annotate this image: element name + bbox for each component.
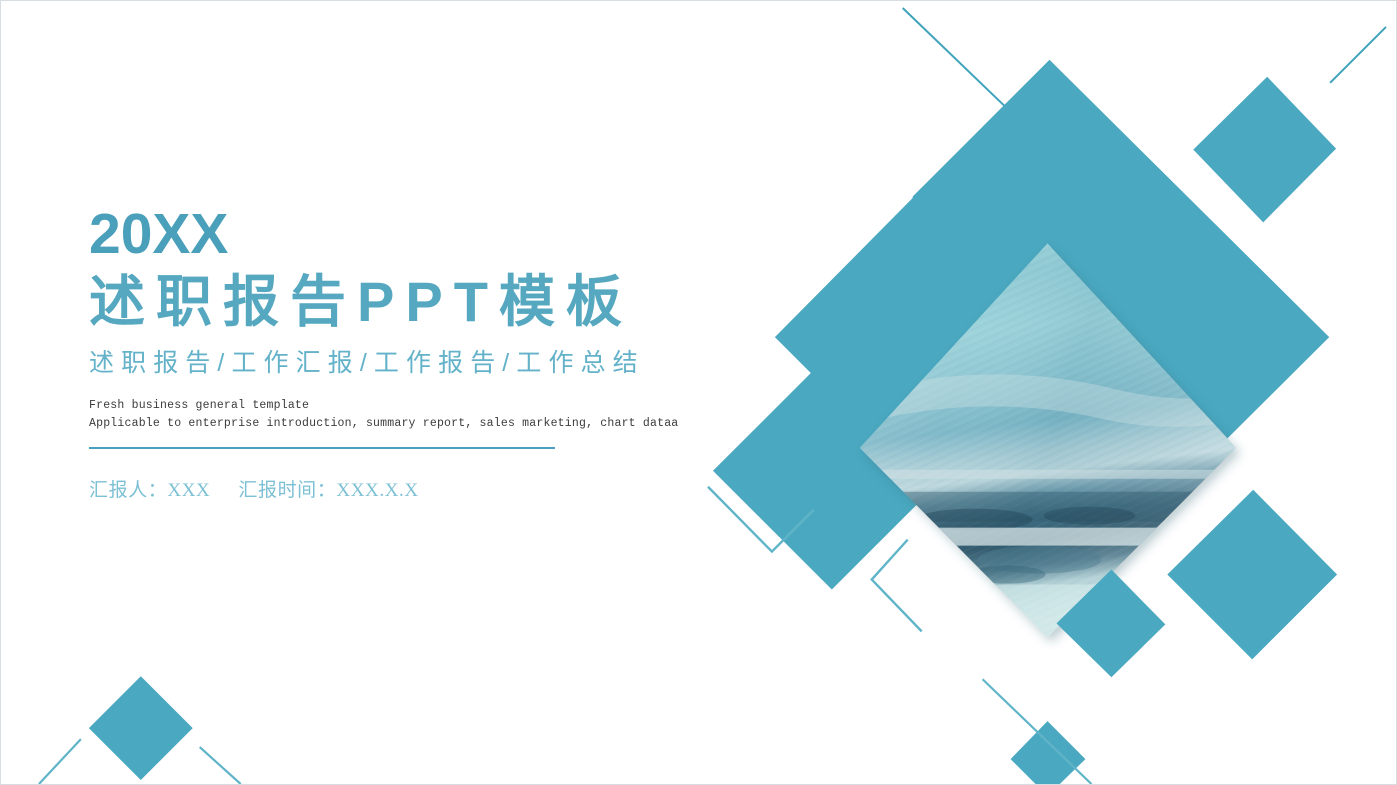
date-value: XXX.X.X	[336, 480, 418, 501]
thin-diagonal-line-top-right	[1330, 27, 1386, 83]
year-label: 20XX	[89, 206, 789, 263]
date-label: 汇报时间：	[238, 480, 336, 501]
chevron-outline-right	[872, 540, 922, 632]
meta-row: 汇报人：XXX汇报时间：XXX.X.X	[89, 475, 789, 502]
bottom-center-small-diamond	[1011, 721, 1086, 784]
thin-diagonal-line-bottom-left-b	[200, 747, 241, 784]
thin-diagonal-line-top	[903, 8, 1012, 113]
english-description: Fresh business general template Applicab…	[89, 397, 789, 434]
thin-diagonal-line-bottom-left-a	[39, 739, 81, 784]
top-right-diamond	[1193, 77, 1336, 223]
english-description-line-2: Applicable to enterprise introduction, s…	[89, 415, 789, 434]
reporter-value: XXX	[167, 480, 210, 501]
reporter-label: 汇报人：	[89, 480, 167, 501]
divider	[89, 447, 555, 449]
subtitle: 述职报告/工作汇报/工作报告/工作总结	[89, 343, 789, 379]
bottom-left-diamond	[89, 676, 193, 780]
english-description-line-1: Fresh business general template	[89, 397, 789, 416]
bottom-right-large-diamond	[1167, 490, 1337, 660]
title-text-block: 20XX 述职报告PPT模板 述职报告/工作汇报/工作报告/工作总结 Fresh…	[89, 206, 789, 502]
page-title: 述职报告PPT模板	[89, 271, 789, 334]
title-slide: 20XX 述职报告PPT模板 述职报告/工作汇报/工作报告/工作总结 Fresh…	[0, 0, 1397, 785]
